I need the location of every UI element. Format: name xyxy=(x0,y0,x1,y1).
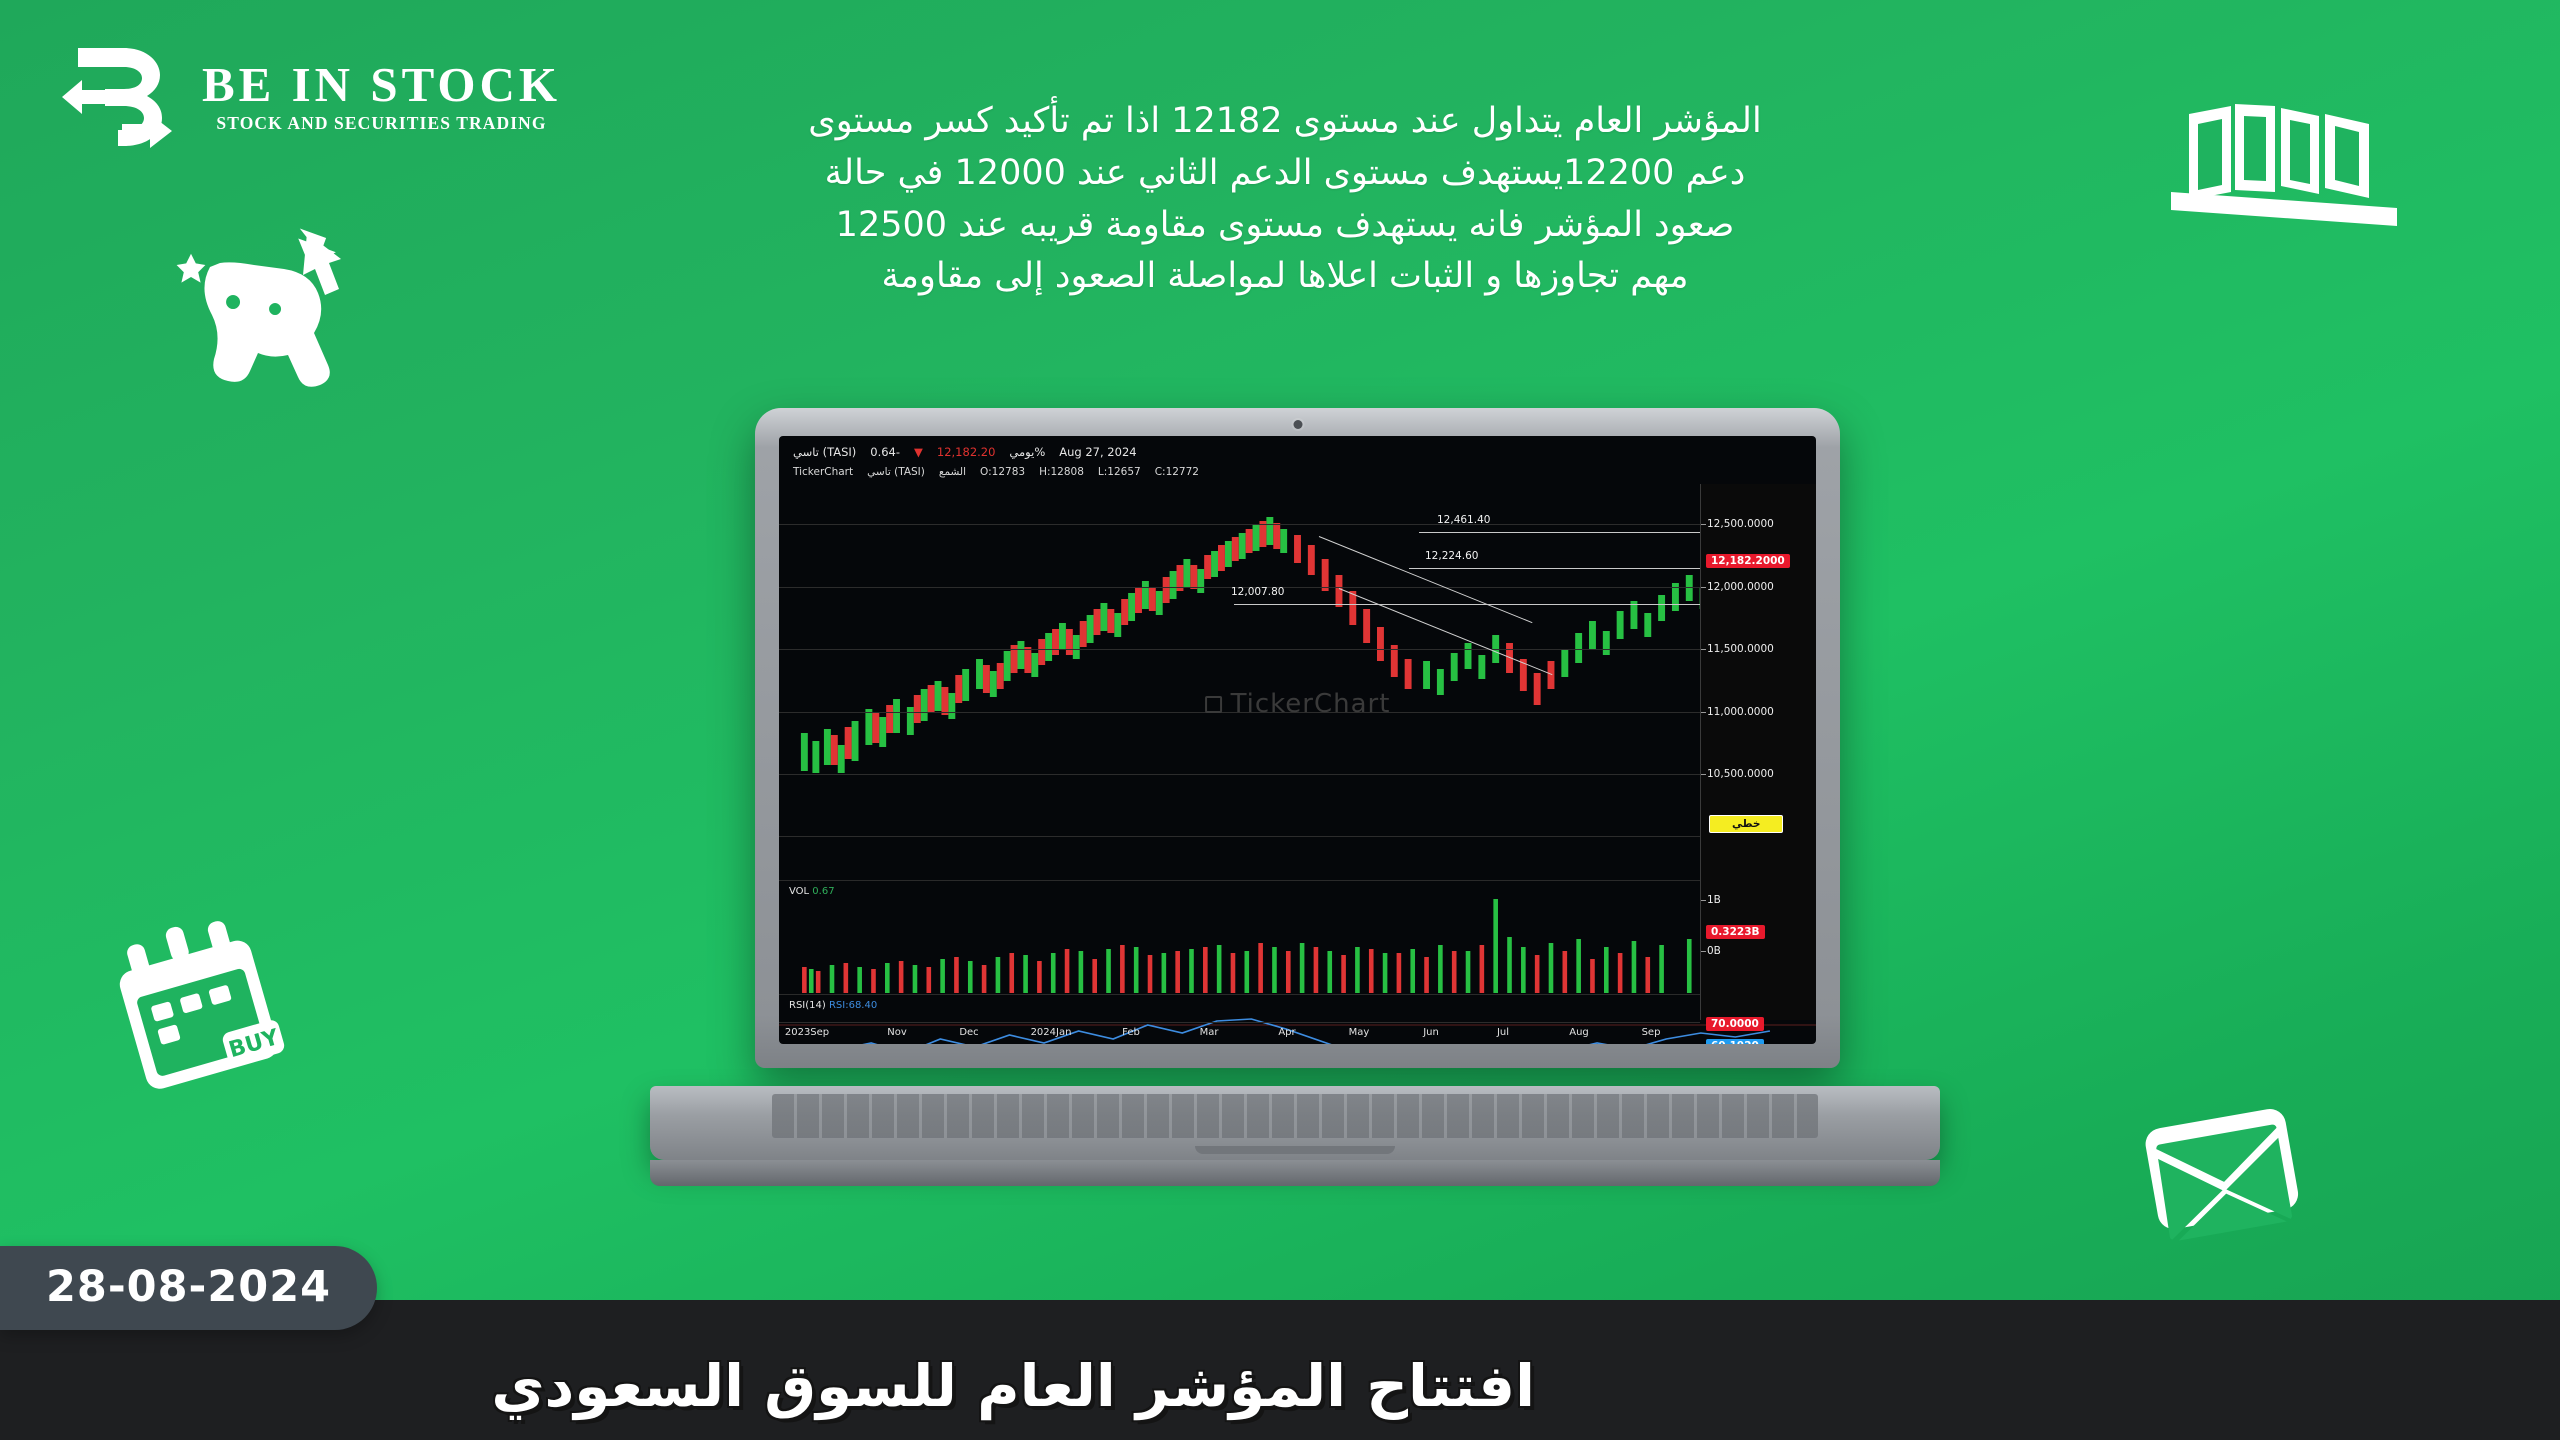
date-badge: 28-08-2024 xyxy=(0,1246,377,1330)
price-pane: 12,461.40 12,224.60 12,007.80 TickerChar… xyxy=(779,484,1816,876)
shelf-books-sticker xyxy=(2165,100,2415,230)
xtick-4: Feb xyxy=(1122,1027,1140,1038)
annotation-line-1 xyxy=(1419,532,1700,533)
xtick-1: Nov xyxy=(887,1027,907,1038)
footer-bar: افتتاح المؤشر العام للسوق السعودي xyxy=(0,1300,2560,1440)
xtick-10: Aug xyxy=(1569,1027,1589,1038)
axis-tick-vol-1b: 1B xyxy=(1707,894,1721,906)
axis-tick-12500: 12,500.0000 xyxy=(1707,518,1774,530)
xtick-5: Mar xyxy=(1200,1027,1219,1038)
time-axis: 2023Sep Nov Dec 2024Jan Feb Mar Apr May … xyxy=(779,1022,1700,1044)
ohlc-low: L:12657 xyxy=(1098,466,1141,478)
annotation-12461: 12,461.40 xyxy=(1437,514,1490,526)
chart-symbol: تاسي (TASI) xyxy=(793,445,856,459)
laptop-screen: تاسي (TASI)يومي12,182.20▼-0.64%Aug 27, 2… xyxy=(779,436,1816,1044)
watermark-text: TickerChart xyxy=(1231,689,1391,719)
laptop-base xyxy=(650,1086,1940,1160)
xtick-9: Jul xyxy=(1497,1027,1509,1038)
analysis-line-3: صعود المؤشر فانه يستهدف مستوى مقاومة قري… xyxy=(640,200,1930,252)
watermark-box-icon xyxy=(1205,696,1222,713)
ohlc-open: O:12783 xyxy=(980,466,1025,478)
analysis-line-1: المؤشر العام يتداول عند مستوى 12182 اذا … xyxy=(640,96,1930,148)
chart-sub-symbol: تاسي (TASI) xyxy=(867,466,925,478)
laptop-lid: تاسي (TASI)يومي12,182.20▼-0.64%Aug 27, 2… xyxy=(755,408,1840,1068)
axis-tick-11500: 11,500.0000 xyxy=(1707,643,1774,655)
volume-pane: VOL 0.67 xyxy=(779,880,1816,992)
xtick-2: Dec xyxy=(959,1027,978,1038)
laptop-foot xyxy=(650,1160,1940,1186)
chart-header: تاسي (TASI)يومي12,182.20▼-0.64%Aug 27, 2… xyxy=(793,445,1137,459)
annotation-12224: 12,224.60 xyxy=(1425,550,1478,562)
brand-name: BE IN STOCK xyxy=(202,60,561,110)
axis-tick-10500: 10,500.0000 xyxy=(1707,768,1774,780)
footer-title: افتتاح المؤشر العام للسوق السعودي xyxy=(491,1352,1535,1420)
brand-text: BE IN STOCK STOCK AND SECURITIES TRADING xyxy=(202,60,561,135)
xtick-0: 2023Sep xyxy=(785,1027,829,1038)
annotation-12007: 12,007.80 xyxy=(1231,586,1284,598)
chart-subheader: TickerChartتاسي (TASI)الشمعO:12783H:1280… xyxy=(793,466,1199,478)
xtick-3: 2024Jan xyxy=(1031,1027,1072,1038)
analysis-line-4: مهم تجاوزها و الثبات اعلاها لمواصلة الصع… xyxy=(640,251,1930,303)
brand-tagline: STOCK AND SECURITIES TRADING xyxy=(216,113,546,134)
xtick-7: May xyxy=(1349,1027,1370,1038)
rsi-title: RSI(14) xyxy=(789,1000,826,1011)
analysis-line-2: دعم 12200يستهدف مستوى الدعم الثاني عند 1… xyxy=(640,148,1930,200)
mail-envelope-sticker xyxy=(2135,1090,2310,1250)
annotation-line-2 xyxy=(1409,568,1700,569)
brand-logo: BE IN STOCK STOCK AND SECURITIES TRADING xyxy=(60,38,561,156)
volume-title: VOL xyxy=(789,886,809,897)
bull-sticker xyxy=(175,225,365,410)
ohlc-high: H:12808 xyxy=(1039,466,1084,478)
axis-badge-rsi-70: 70.0000 xyxy=(1706,1017,1764,1031)
rsi-value: RSI:68.40 xyxy=(829,1000,877,1011)
volume-value: 0.67 xyxy=(812,886,834,897)
touchpad-notch xyxy=(1195,1146,1395,1154)
annotation-line-3 xyxy=(1234,604,1700,605)
keyboard xyxy=(772,1094,1818,1138)
triangle-down-icon: ▼ xyxy=(914,445,923,459)
poster-canvas: BE IN STOCK STOCK AND SECURITIES TRADING… xyxy=(0,0,2560,1440)
axis-tick-11000: 11,000.0000 xyxy=(1707,706,1774,718)
arrows-b-logo-icon xyxy=(60,38,180,156)
ohlc-close: C:12772 xyxy=(1155,466,1199,478)
tickerchart-watermark: TickerChart xyxy=(1205,689,1391,719)
buy-calendar-sticker: BUY xyxy=(110,905,320,1115)
right-price-axis: 12,500.0000 12,182.2000 12,000.0000 11,5… xyxy=(1700,484,1816,1020)
axis-badge-last-price[interactable]: 12,182.2000 xyxy=(1706,554,1790,568)
chart-source: TickerChart xyxy=(793,466,853,478)
chart-timeframe: يومي xyxy=(1009,445,1034,459)
axis-badge-vol: 0.3223B xyxy=(1706,925,1765,939)
rsi-label: RSI(14) RSI:68.40 xyxy=(789,1000,877,1011)
axis-tick-vol-0b: 0B xyxy=(1707,945,1721,957)
chart-style: الشمع xyxy=(939,466,966,478)
candlestick-series xyxy=(779,484,1816,876)
axis-tick-12000: 12,000.0000 xyxy=(1707,581,1774,593)
xtick-8: Jun xyxy=(1423,1027,1439,1038)
volume-bars xyxy=(779,881,1816,993)
xtick-6: Apr xyxy=(1278,1027,1295,1038)
webcam-icon xyxy=(1293,420,1302,429)
axis-badge-rsi-current: 60.1920 xyxy=(1706,1039,1764,1044)
chart-date: Aug 27, 2024 xyxy=(1059,445,1136,459)
analysis-paragraph: المؤشر العام يتداول عند مستوى 12182 اذا … xyxy=(640,96,1930,303)
chart-last-price: 12,182.20 xyxy=(937,445,996,459)
tickerchart-app: تاسي (TASI)يومي12,182.20▼-0.64%Aug 27, 2… xyxy=(779,436,1816,1044)
xtick-11: Sep xyxy=(1642,1027,1661,1038)
volume-label: VOL 0.67 xyxy=(789,886,835,897)
scale-mode-toggle[interactable]: خطي xyxy=(1709,815,1783,833)
laptop-mockup: تاسي (TASI)يومي12,182.20▼-0.64%Aug 27, 2… xyxy=(650,408,1940,1208)
